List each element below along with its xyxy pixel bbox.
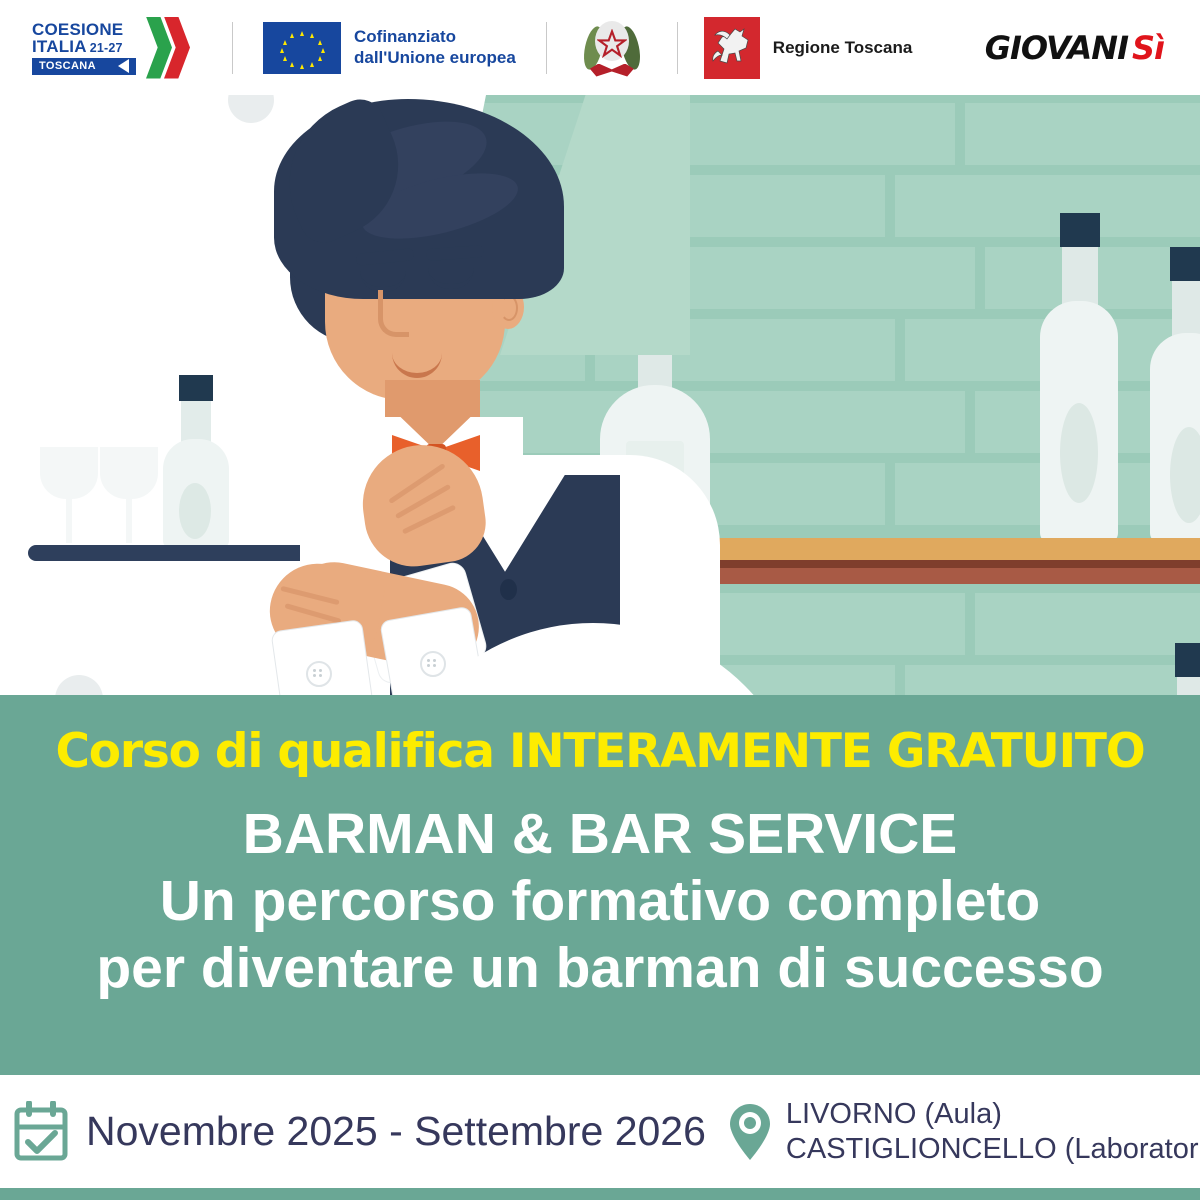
- eu-text-line2: dall'Unione europea: [354, 48, 516, 69]
- divider: [546, 22, 547, 74]
- giovanisi-logo: GIOVANI Sì: [985, 29, 1164, 67]
- info-footer: Novembre 2025 - Settembre 2026 LIVORNO (…: [0, 1075, 1200, 1188]
- eu-flag-icon: [263, 22, 341, 74]
- promo-banner: Corso di qualifica INTERAMENTE GRATUITO …: [0, 695, 1200, 1075]
- repubblica-italiana-emblem: [583, 17, 641, 79]
- course-title: BARMAN & BAR SERVICE: [243, 802, 958, 867]
- date-range-text: Novembre 2025 - Settembre 2026: [86, 1108, 706, 1155]
- location-text: LIVORNO (Aula) CASTIGLIONCELLO (Laborato…: [786, 1097, 1200, 1167]
- wine-glass: [40, 447, 98, 543]
- giovanisi-part2: Sì: [1132, 29, 1164, 67]
- bottle-tall-2: [1150, 247, 1200, 543]
- wine-glass: [100, 447, 158, 543]
- bar-illustration: Scuola Italiana Turismo: [0, 95, 1200, 695]
- bottle-lower-right: [1155, 643, 1200, 695]
- cuff-button: [420, 651, 446, 677]
- regione-toscana-logo: Regione Toscana: [704, 17, 913, 79]
- map-pin-icon: [728, 1101, 772, 1163]
- giovanisi-part1: GIOVANI: [985, 29, 1128, 67]
- course-subtitle-line1: Un percorso formativo completo: [160, 869, 1040, 934]
- vest-button: [500, 579, 517, 600]
- bartender-illustration: [170, 95, 690, 695]
- eu-text-line1: Cofinanziato: [354, 27, 516, 48]
- divider: [232, 22, 233, 74]
- coesione-line1: COESIONE: [32, 21, 136, 38]
- date-info: Novembre 2025 - Settembre 2026: [12, 1101, 706, 1163]
- regione-toscana-label: Regione Toscana: [773, 38, 913, 58]
- location-info: LIVORNO (Aula) CASTIGLIONCELLO (Laborato…: [728, 1097, 1200, 1167]
- coesione-line2: ITALIA: [32, 38, 87, 55]
- pegasus-icon: [704, 17, 760, 79]
- coesione-years: 21-27: [90, 42, 123, 55]
- funding-logo-bar: COESIONE ITALIA 21-27 TOSCANA: [0, 0, 1200, 95]
- star-icon: [597, 29, 627, 59]
- location-line1: LIVORNO (Aula): [786, 1097, 1200, 1132]
- european-union-logo: Cofinanziato dall'Unione europea: [263, 22, 516, 74]
- footer-green-strip: [0, 1188, 1200, 1200]
- course-subtitle-line2: per diventare un barman di successo: [96, 936, 1103, 1001]
- coesione-region-label: TOSCANA: [32, 58, 136, 75]
- location-line2: CASTIGLIONCELLO (Laboratorio): [786, 1132, 1200, 1167]
- promo-headline: Corso di qualifica INTERAMENTE GRATUITO: [56, 727, 1145, 776]
- nose: [378, 290, 409, 337]
- coesione-italia-logo: COESIONE ITALIA 21-27 TOSCANA: [32, 17, 198, 79]
- divider: [677, 22, 678, 74]
- calendar-check-icon: [12, 1101, 70, 1163]
- poster: COESIONE ITALIA 21-27 TOSCANA: [0, 0, 1200, 1200]
- cuff-button: [306, 661, 332, 687]
- bottle-tall-1: [1040, 213, 1118, 543]
- coesione-chevron-icon: [140, 17, 198, 79]
